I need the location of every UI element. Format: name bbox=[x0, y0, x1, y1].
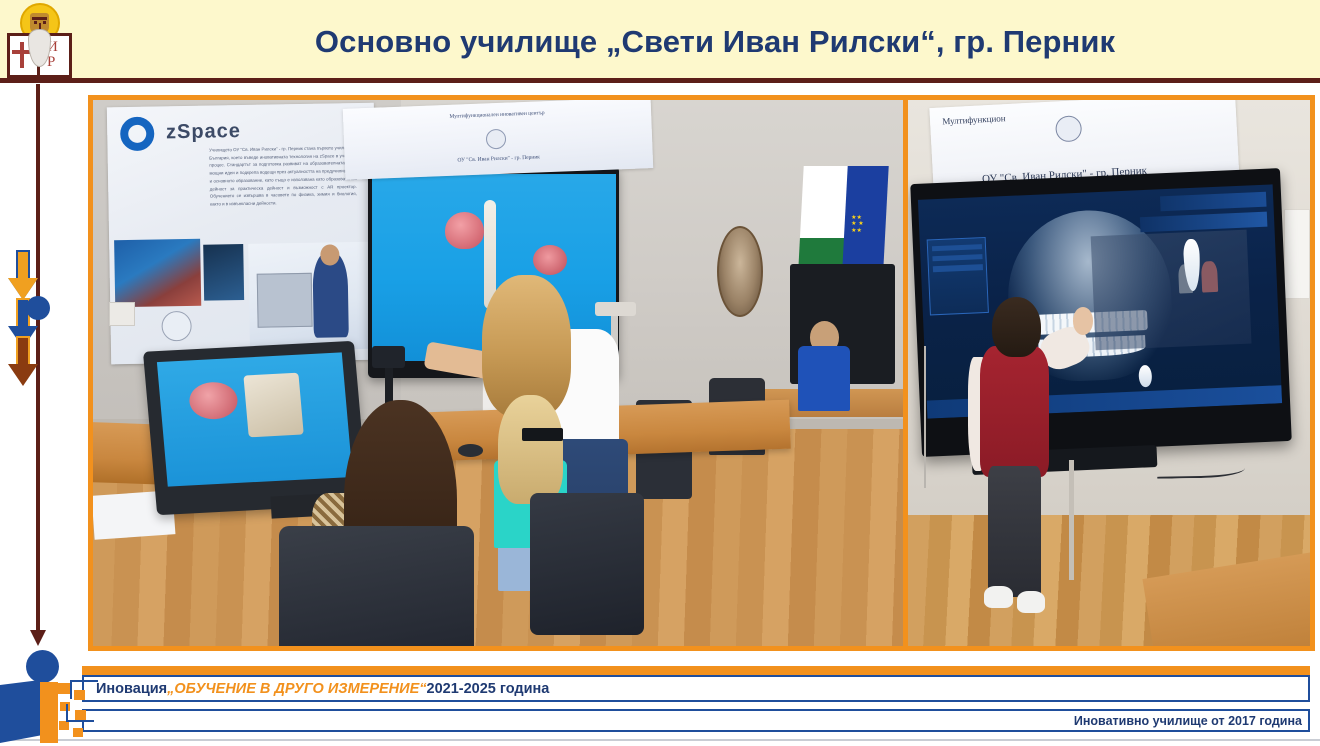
footer-prefix: Иновация bbox=[96, 681, 167, 697]
arrow-shaft bbox=[16, 250, 30, 280]
panel-row[interactable] bbox=[932, 244, 982, 251]
student-head bbox=[992, 297, 1040, 357]
saint-eye-right-icon bbox=[43, 21, 46, 24]
zspace-monitor bbox=[143, 340, 368, 514]
pictogram-body-icon bbox=[0, 680, 40, 743]
student-shoe-left bbox=[984, 586, 1012, 608]
slide-bottom-rule bbox=[0, 739, 1320, 741]
student-trousers bbox=[988, 466, 1040, 597]
desk-lamp-head bbox=[595, 302, 636, 316]
3d-organ-model-2 bbox=[533, 245, 567, 275]
banner-line-1: Мултифункцион bbox=[942, 113, 1006, 126]
banner-line-1: Мултифункционален иновативен център bbox=[343, 105, 651, 123]
header-divider-rule bbox=[0, 78, 1320, 83]
3d-organ-model-1 bbox=[445, 212, 484, 249]
digital-learner-pictogram bbox=[0, 642, 105, 746]
zspace-wall-poster: zSpace Училището ОУ "Св. Иван Рилски" - … bbox=[107, 103, 379, 364]
footer-innovation-label: Иновация „ОБУЧЕНИЕ В ДРУГО ИЗМЕРЕНИЕ“ 20… bbox=[96, 677, 549, 700]
arrow-head bbox=[8, 364, 38, 386]
footer-accent-text: „ОБУЧЕНИЕ В ДРУГО ИЗМЕРЕНИЕ“ bbox=[167, 681, 426, 697]
banner-seal-icon bbox=[485, 128, 506, 149]
wall-pole bbox=[1069, 460, 1075, 580]
software-toolbar-secondary[interactable] bbox=[1139, 212, 1267, 233]
zspace-brand-label: zSpace bbox=[166, 121, 241, 145]
pictogram-block-icon bbox=[73, 728, 83, 737]
banner-line-2: ОУ "Св. Иван Рилски" - гр. Перник bbox=[345, 149, 653, 167]
software-toolbar-top[interactable] bbox=[1160, 192, 1267, 212]
wall-socket bbox=[109, 302, 135, 326]
monitor-skeleton-model bbox=[243, 372, 304, 437]
book-bottom-edge-icon bbox=[7, 76, 72, 80]
panel-row[interactable] bbox=[933, 265, 983, 272]
panel-row[interactable] bbox=[932, 255, 982, 262]
student-red-vest bbox=[980, 346, 1048, 477]
poster-body-text: Училището ОУ "Св. Иван Рилски" - гр. Пер… bbox=[209, 145, 357, 209]
down-arrow-brown-icon bbox=[8, 336, 38, 388]
footer-suffix: 2021-2025 година bbox=[427, 681, 550, 697]
page-title: Основно училище „Свети Иван Рилски“, гр.… bbox=[120, 14, 1310, 70]
saint-eye-left-icon bbox=[34, 21, 37, 24]
student-standing-hair bbox=[498, 395, 563, 504]
pictogram-connector-icon bbox=[70, 680, 98, 699]
timeline-milestone-dot bbox=[26, 296, 50, 320]
saint-ivan-rilski-icon: И Р bbox=[3, 2, 75, 86]
reflection-person-2 bbox=[1201, 261, 1218, 293]
zspace-monitor-screen bbox=[156, 353, 352, 487]
photo-content: zSpace Училището ОУ "Св. Иван Рилски" - … bbox=[93, 100, 903, 646]
eu-flag-stars-icon: ★★★ ★★★ bbox=[851, 215, 863, 235]
footer-status-label: Иновативно училище от 2017 година bbox=[1074, 710, 1302, 731]
poster-anatomy-image bbox=[115, 240, 202, 308]
chair-secondary bbox=[530, 493, 643, 635]
photo-zspace-classroom: zSpace Училището ОУ "Св. Иван Рилски" - … bbox=[88, 95, 908, 651]
pictogram-head-icon bbox=[26, 650, 59, 683]
student-far-body bbox=[798, 346, 851, 412]
poster-person-body bbox=[313, 252, 349, 337]
photo-content: Мултифункцион ОУ "Св. Иван Рилски" - гр.… bbox=[908, 100, 1310, 646]
software-side-panel[interactable] bbox=[927, 237, 989, 316]
pictogram-body-accent-icon bbox=[40, 682, 58, 743]
banner-seal-icon bbox=[1055, 115, 1082, 142]
student-shoe-right bbox=[1017, 591, 1045, 613]
down-arrow-orange-icon bbox=[8, 250, 38, 302]
poster-lab-rig bbox=[257, 274, 313, 328]
chair-foreground bbox=[279, 526, 473, 646]
wall-cable bbox=[924, 346, 926, 488]
student-hand bbox=[1073, 307, 1093, 334]
photo-interactive-display-dental-xray: Мултифункцион ОУ "Св. Иван Рилски" - гр.… bbox=[903, 95, 1315, 651]
poster-school-seal-icon bbox=[161, 312, 192, 343]
wall-banner: Мултифункционален иновативен център ОУ "… bbox=[343, 100, 653, 180]
pictogram-block-icon bbox=[59, 721, 69, 730]
zspace-logo-icon bbox=[121, 117, 156, 152]
saint-brow-icon bbox=[32, 17, 47, 20]
cross-icon-vertical bbox=[20, 42, 24, 68]
arrow-shaft bbox=[16, 336, 30, 366]
xray-isolated-tooth-small bbox=[1139, 365, 1152, 387]
xray-classroom-reflection bbox=[1091, 230, 1252, 350]
monitor-organ-model bbox=[188, 381, 239, 421]
vr-glasses-icon bbox=[522, 428, 563, 442]
poster-thumbnail-image bbox=[203, 244, 244, 301]
wall-paper-notice bbox=[1284, 209, 1310, 298]
wall-portrait bbox=[717, 226, 763, 317]
presentation-slide: Основно училище „Свети Иван Рилски“, гр.… bbox=[0, 0, 1320, 746]
pictogram-connector-icon bbox=[66, 704, 94, 722]
tracking-camera bbox=[372, 346, 404, 368]
